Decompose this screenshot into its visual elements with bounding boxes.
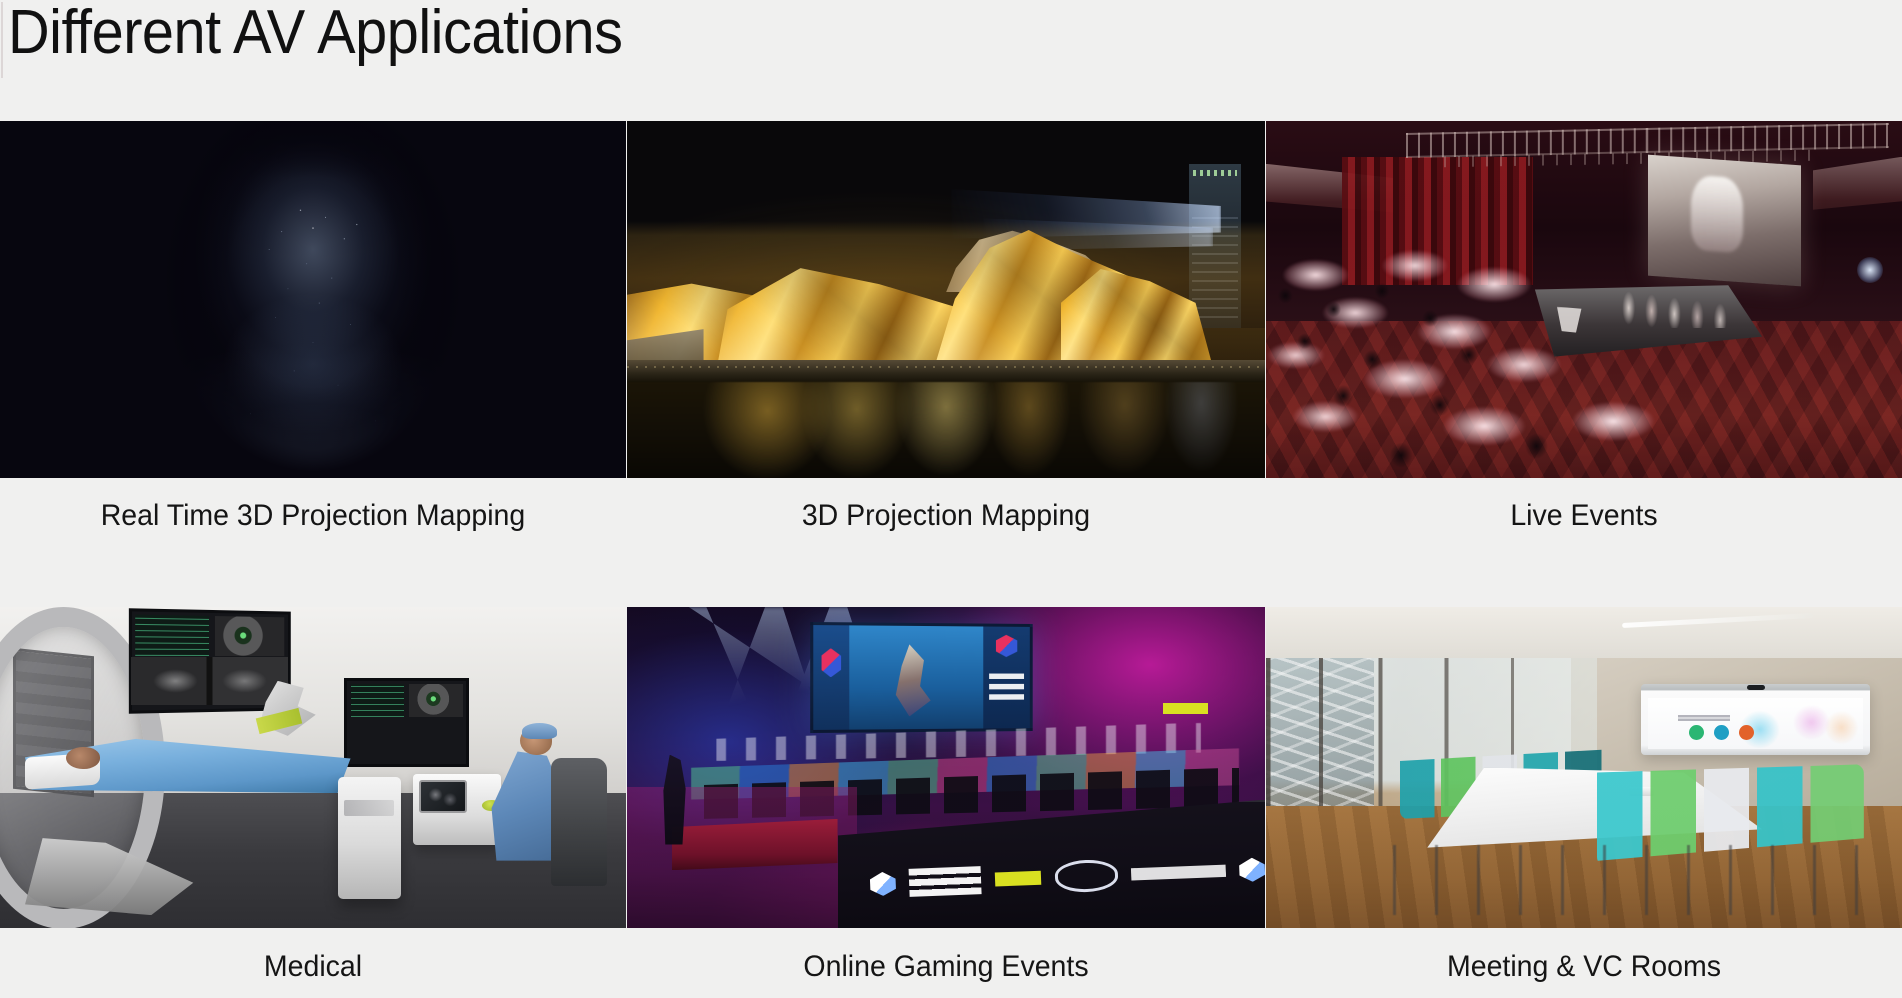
thumbnail-online-gaming-events[interactable] [627,607,1265,928]
audience [1266,250,1749,478]
chair-bases [1393,845,1876,916]
ceiling [1266,607,1902,658]
caption-medical: Medical [16,928,611,987]
caption-online-gaming-events: Online Gaming Events [643,928,1249,987]
meeting-room-image [1266,607,1902,928]
caption-real-time-3d-projection-mapping: Real Time 3D Projection Mapping [16,478,611,536]
display-content [1648,698,1863,749]
secondary-monitor-bank [344,678,469,767]
balcony-right [1813,157,1902,243]
caption-live-events: Live Events [1282,478,1886,536]
video-wall-event-branding [983,627,1029,729]
patient-head [66,747,100,769]
thumbnail-meeting-vc-rooms[interactable] [1266,607,1902,928]
title-accent-rule [1,2,3,78]
left-branded-desk [672,819,838,870]
video-conference-display [1641,684,1870,755]
card-3d-projection-mapping[interactable]: 3D Projection Mapping [627,121,1265,536]
retailer-sponsor-badge [994,870,1041,886]
esports-arena-image [627,607,1265,928]
riverside-quay [627,360,1265,381]
moving-head-spotlight [1857,257,1883,283]
equipment-cart [338,777,401,899]
game-title-wordmark [1130,859,1226,885]
display-dot-graphic [1689,725,1754,740]
thumbnail-live-events[interactable] [1266,121,1902,478]
card-meeting-vc-rooms[interactable]: Meeting & VC Rooms [1266,607,1902,987]
display-headline-text [1678,715,1730,721]
live-events-image [1266,121,1902,478]
caption-meeting-vc-rooms: Meeting & VC Rooms [1282,928,1886,987]
particle-bust-image [0,121,626,478]
esports-logo-icon [869,871,896,896]
card-online-gaming-events[interactable]: Online Gaming Events [627,607,1265,987]
page-title: Different AV Applications [8,0,622,70]
slide-canvas: Different AV Applications Real Time 3D P… [0,0,1902,998]
led-video-wall [810,622,1032,733]
display-dot-orange [1739,725,1754,740]
display-dot-green [1689,725,1704,740]
river-reflections [627,382,1265,478]
guggenheim-projection-image [627,121,1265,478]
thumbnail-real-time-3d-projection-mapping[interactable] [0,121,626,478]
display-dot-blue [1714,725,1729,740]
surgical-cap [522,723,557,739]
office-chair [551,758,607,886]
card-live-events[interactable]: Live Events [1266,121,1902,536]
console-touchscreen [419,780,467,813]
thumbnail-3d-projection-mapping[interactable] [627,121,1265,478]
video-wall-left-panel [813,625,849,730]
card-medical[interactable]: Medical [0,607,626,987]
esports-logo-icon-repeat [1239,857,1265,882]
card-real-time-3d-projection-mapping[interactable]: Real Time 3D Projection Mapping [0,121,626,536]
equipment-cart-label [344,800,394,816]
title-placeholder[interactable]: Different AV Applications [0,0,1902,112]
medical-cath-lab-image [0,607,626,928]
video-wall-game-feed [849,625,983,729]
sponsor-badge-screen [1163,703,1208,713]
caption-3d-projection-mapping: 3D Projection Mapping [643,478,1249,536]
chipmaker-sponsor-logo [1054,858,1118,892]
esports-wordmark [908,866,981,897]
thumbnail-medical[interactable] [0,607,626,928]
overhead-monitor-bank-lower [131,657,288,705]
